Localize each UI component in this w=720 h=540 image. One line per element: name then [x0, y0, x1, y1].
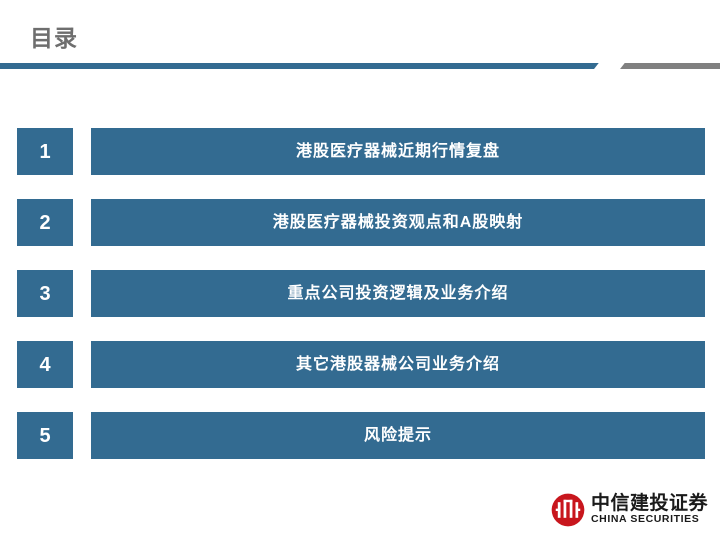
- logo-text: 中信建投证券 CHINA SECURITIES: [591, 494, 708, 525]
- agenda-item-3[interactable]: 3 重点公司投资逻辑及业务介绍: [0, 270, 720, 317]
- agenda-item-4[interactable]: 4 其它港股器械公司业务介绍: [0, 341, 720, 388]
- agenda-item-bar[interactable]: 重点公司投资逻辑及业务介绍: [91, 270, 705, 317]
- agenda-item-5[interactable]: 5 风险提示: [0, 412, 720, 459]
- agenda-item-label: 重点公司投资逻辑及业务介绍: [287, 286, 508, 302]
- slide-header: 目录: [0, 0, 720, 70]
- agenda-number-badge: 2: [17, 199, 73, 246]
- citic-emblem-icon: [551, 493, 585, 527]
- agenda-item-bar[interactable]: 其它港股器械公司业务介绍: [91, 341, 705, 388]
- agenda-item-bar[interactable]: 风险提示: [91, 412, 705, 459]
- agenda-item-label: 其它港股器械公司业务介绍: [296, 357, 500, 373]
- divider-accent-segment: [0, 63, 606, 69]
- logo-name-cn: 中信建投证券: [591, 494, 708, 514]
- agenda-item-bar[interactable]: 港股医疗器械近期行情复盘: [91, 128, 705, 175]
- agenda-item-label: 港股医疗器械近期行情复盘: [296, 144, 500, 160]
- agenda-number-badge: 4: [17, 341, 73, 388]
- agenda-number-badge: 5: [17, 412, 73, 459]
- agenda-number-badge: 1: [17, 128, 73, 175]
- page-title: 目录: [30, 27, 78, 50]
- header-divider: [0, 63, 720, 69]
- agenda-item-2[interactable]: 2 港股医疗器械投资观点和A股映射: [0, 199, 720, 246]
- agenda-item-1[interactable]: 1 港股医疗器械近期行情复盘: [0, 128, 720, 175]
- divider-secondary-segment: [612, 63, 720, 69]
- logo-name-en: CHINA SECURITIES: [591, 514, 708, 526]
- agenda-list: 1 港股医疗器械近期行情复盘 2 港股医疗器械投资观点和A股映射 3 重点公司投…: [0, 128, 720, 483]
- agenda-item-bar[interactable]: 港股医疗器械投资观点和A股映射: [91, 199, 705, 246]
- company-logo: 中信建投证券 CHINA SECURITIES: [551, 490, 708, 530]
- agenda-number-badge: 3: [17, 270, 73, 317]
- agenda-item-label: 港股医疗器械投资观点和A股映射: [273, 215, 524, 231]
- agenda-item-label: 风险提示: [364, 428, 432, 444]
